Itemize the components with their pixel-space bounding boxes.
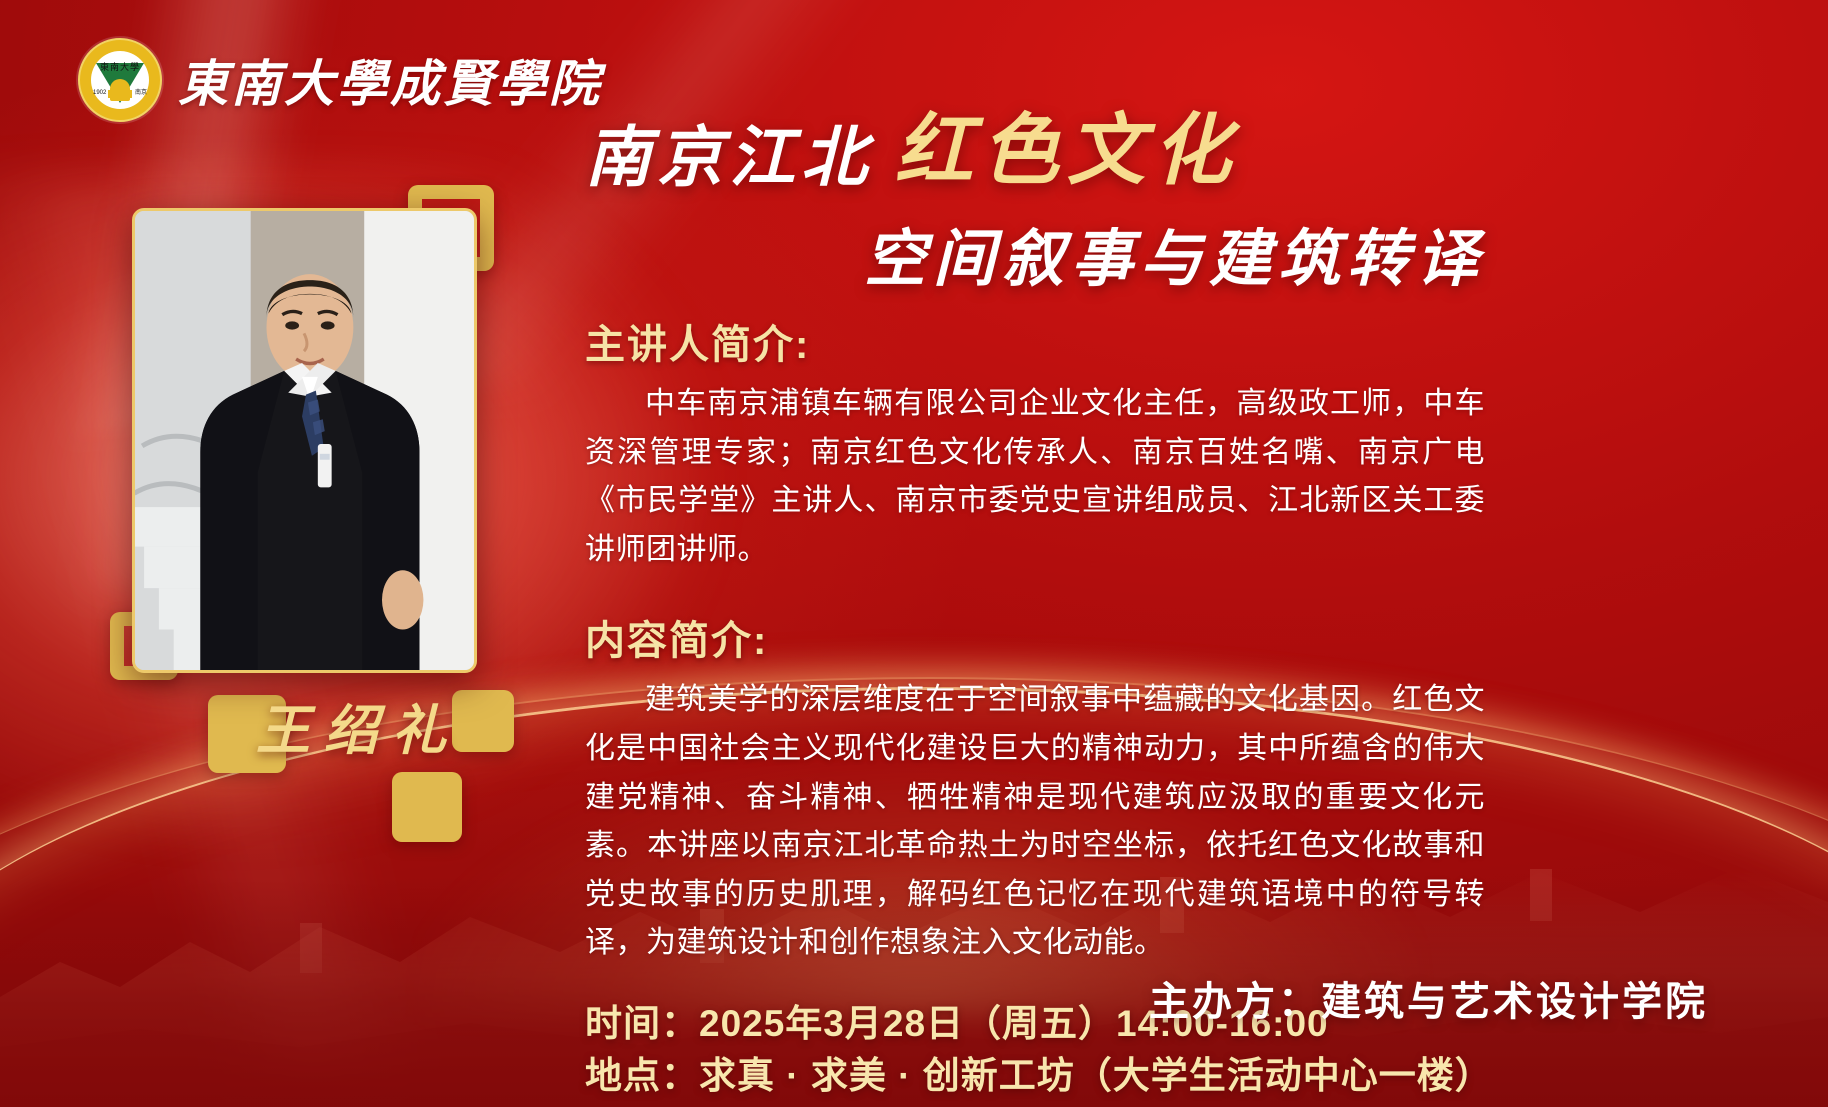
event-place-value: 求真 · 求美 · 创新工坊（大学生活动中心一楼） [699, 1055, 1493, 1096]
poster-canvas: 東南大學 1902 南京 東南大學成賢學院 [0, 0, 1828, 1107]
title-gold-part: 红色文化 [895, 88, 1239, 200]
event-time-label: 时间： [585, 1003, 699, 1044]
seal-year: 1902 [93, 90, 106, 96]
event-place: 地点：求真 · 求美 · 创新工坊（大学生活动中心一楼） [585, 1050, 1485, 1103]
speaker-bio-text: 中车南京浦镇车辆有限公司企业文化主任，高级政工师，中车资深管理专家；南京红色文化… [585, 380, 1485, 574]
speaker-section-heading: 主讲人简介: [585, 312, 1485, 370]
decor-square-right-bottom [452, 690, 514, 752]
seal-city: 南京 [135, 87, 147, 96]
university-logo: 東南大學 1902 南京 東南大學成賢學院 [78, 38, 602, 122]
speaker-name: 王绍礼 [256, 686, 460, 765]
content-body-text: 建筑美学的深层维度在于空间叙事中蕴藏的文化基因。红色文化是中国社会主义现代化建设… [585, 676, 1485, 968]
event-place-label: 地点： [585, 1055, 699, 1096]
poster-title-line1: 南京江北 红色文化 [585, 88, 1485, 200]
university-wordmark: 東南大學成賢學院 [178, 44, 602, 116]
host-organization: 主办方：建筑与艺术设计学院 [1149, 969, 1708, 1027]
content-column: 南京江北 红色文化 空间叙事与建筑转译 主讲人简介: 中车南京浦镇车辆有限公司企… [585, 88, 1485, 1103]
title-white-part: 南京江北 [585, 104, 873, 200]
seal-chinese-name: 東南大學 [80, 60, 160, 73]
poster-title-line2: 空间叙事与建筑转译 [585, 208, 1485, 298]
speaker-portrait [132, 208, 477, 673]
decor-square-lower-right [392, 772, 462, 842]
content-section-heading: 内容简介: [585, 608, 1485, 666]
university-seal-icon: 東南大學 1902 南京 [78, 38, 162, 122]
